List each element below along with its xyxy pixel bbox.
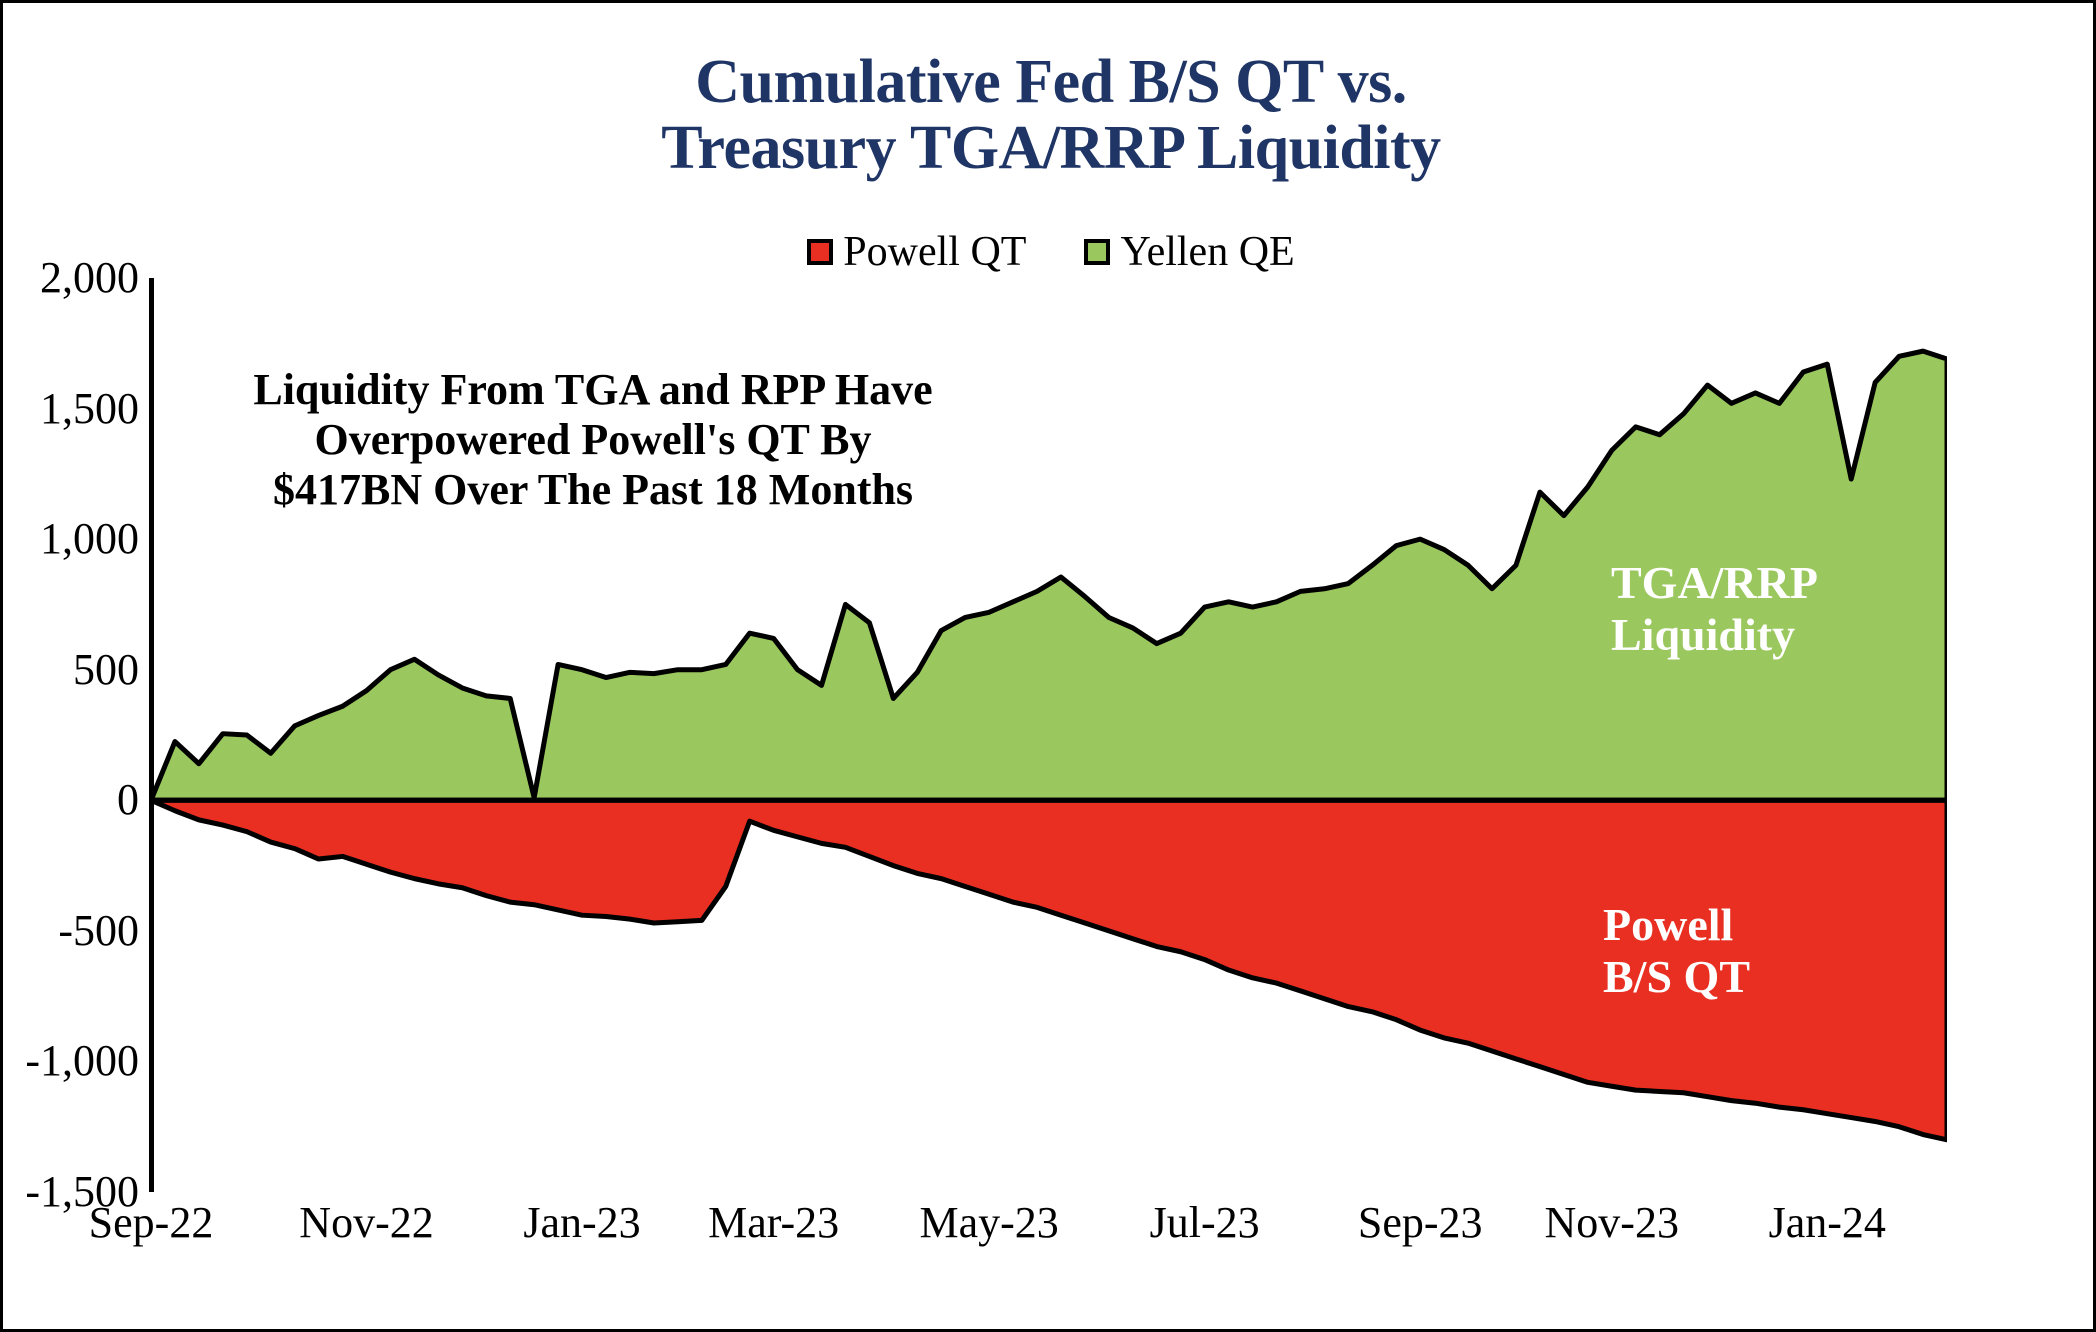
y-tick-label: -500 bbox=[0, 909, 139, 953]
x-tick-label: Sep-23 bbox=[1358, 1199, 1483, 1247]
x-tick-label: Mar-23 bbox=[708, 1199, 839, 1247]
chart-title-line1: Cumulative Fed B/S QT vs. bbox=[3, 49, 2096, 115]
y-tick-label: 1,500 bbox=[0, 387, 139, 431]
chart-annotation: Liquidity From TGA and RPP Have Overpowe… bbox=[193, 365, 993, 515]
x-tick-label: Nov-23 bbox=[1545, 1199, 1679, 1247]
x-tick-label: Jul-23 bbox=[1150, 1199, 1260, 1247]
series-label-red-line1: Powell bbox=[1603, 899, 1750, 951]
chart-title: Cumulative Fed B/S QT vs. Treasury TGA/R… bbox=[3, 49, 2096, 181]
chart-legend: Powell QT Yellen QE bbox=[3, 231, 2096, 273]
y-tick-label: 0 bbox=[0, 778, 139, 822]
legend-swatch-yellen-qe bbox=[1084, 239, 1110, 265]
series-label-green-line2: Liquidity bbox=[1611, 609, 1818, 661]
x-tick-label: Nov-22 bbox=[299, 1199, 433, 1247]
x-tick-label: Sep-22 bbox=[89, 1199, 214, 1247]
y-tick-label: 1,000 bbox=[0, 517, 139, 561]
y-tick-label: -1,000 bbox=[0, 1039, 139, 1083]
series-label-red-line2: B/S QT bbox=[1603, 951, 1750, 1003]
annotation-line1: Liquidity From TGA and RPP Have bbox=[193, 365, 993, 415]
y-axis-tick-labels: 2,0001,5001,0005000-500-1,000-1,500 bbox=[3, 278, 139, 1192]
annotation-line2: Overpowered Powell's QT By bbox=[193, 415, 993, 465]
legend-item-powell-qt[interactable]: Powell QT bbox=[807, 231, 1026, 273]
series-label-tga-rrp-liquidity: TGA/RRP Liquidity bbox=[1611, 557, 1818, 661]
legend-label-powell-qt: Powell QT bbox=[843, 231, 1026, 273]
legend-item-yellen-qe[interactable]: Yellen QE bbox=[1084, 231, 1294, 273]
annotation-line3: $417BN Over The Past 18 Months bbox=[193, 465, 993, 515]
x-tick-label: Jan-24 bbox=[1769, 1199, 1886, 1247]
legend-label-yellen-qe: Yellen QE bbox=[1120, 231, 1294, 273]
x-axis-tick-labels: Sep-22Nov-22Jan-23Mar-23May-23Jul-23Sep-… bbox=[151, 1199, 1947, 1259]
series-label-powell-bs-qt: Powell B/S QT bbox=[1603, 899, 1750, 1003]
x-tick-label: May-23 bbox=[919, 1199, 1058, 1247]
chart-title-line2: Treasury TGA/RRP Liquidity bbox=[3, 115, 2096, 181]
series-label-green-line1: TGA/RRP bbox=[1611, 557, 1818, 609]
legend-swatch-powell-qt bbox=[807, 239, 833, 265]
x-tick-label: Jan-23 bbox=[523, 1199, 640, 1247]
y-tick-label: 2,000 bbox=[0, 256, 139, 300]
y-tick-label: 500 bbox=[0, 648, 139, 692]
chart-canvas: Cumulative Fed B/S QT vs. Treasury TGA/R… bbox=[0, 0, 2096, 1332]
